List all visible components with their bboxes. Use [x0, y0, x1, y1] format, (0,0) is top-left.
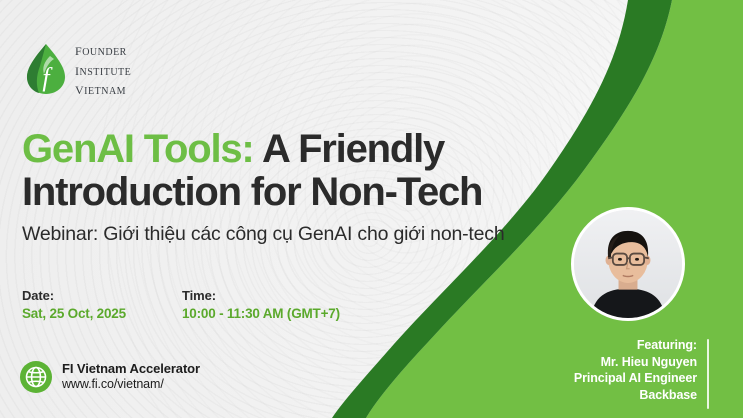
- footer-url[interactable]: www.fi.co/vietnam/: [62, 377, 200, 393]
- speaker-company: Backbase: [574, 387, 697, 404]
- credits-divider: [707, 339, 709, 409]
- speaker-portrait-image: [574, 210, 682, 318]
- footer-org: FI Vietnam Accelerator: [62, 361, 200, 377]
- footer-text: FI Vietnam Accelerator www.fi.co/vietnam…: [62, 361, 200, 393]
- time-label: Time:: [182, 288, 442, 303]
- webinar-banner: f Founder Institute Vietnam GenAI Tools:…: [0, 0, 743, 418]
- title-accent: GenAI Tools:: [22, 127, 254, 171]
- founder-institute-logo[interactable]: f Founder Institute Vietnam: [24, 40, 131, 99]
- globe-icon: [19, 360, 53, 394]
- page-title: GenAI Tools: A FriendlyIntroduction for …: [22, 128, 552, 214]
- speaker-name: Mr. Hieu Nguyen: [574, 354, 697, 371]
- event-meta: Date: Sat, 25 Oct, 2025 Time: 10:00 - 11…: [22, 288, 442, 321]
- page-subtitle: Webinar: Giới thiệu các công cụ GenAI ch…: [22, 223, 552, 246]
- time-value: 10:00 - 11:30 AM (GMT+7): [182, 306, 442, 321]
- event-date: Date: Sat, 25 Oct, 2025: [22, 288, 182, 321]
- speaker-role: Principal AI Engineer: [574, 370, 697, 387]
- date-label: Date:: [22, 288, 182, 303]
- featuring-label: Featuring:: [574, 337, 697, 354]
- logo-line-founder: Founder: [75, 40, 131, 60]
- title-line2: Introduction for Non-Tech: [22, 170, 482, 214]
- title-rest: A Friendly: [254, 127, 445, 171]
- headline-block: GenAI Tools: A FriendlyIntroduction for …: [22, 128, 552, 246]
- footer-block[interactable]: FI Vietnam Accelerator www.fi.co/vietnam…: [19, 360, 200, 394]
- speaker-credits: Featuring: Mr. Hieu Nguyen Principal AI …: [574, 337, 697, 404]
- logo-line-vietnam: Vietnam: [75, 79, 131, 99]
- logo-wordmark: Founder Institute Vietnam: [75, 40, 131, 99]
- avatar: [571, 207, 685, 321]
- event-time: Time: 10:00 - 11:30 AM (GMT+7): [182, 288, 442, 321]
- leaf-droplet-icon: f: [24, 42, 68, 96]
- logo-line-institute: Institute: [75, 60, 131, 80]
- date-value: Sat, 25 Oct, 2025: [22, 306, 182, 321]
